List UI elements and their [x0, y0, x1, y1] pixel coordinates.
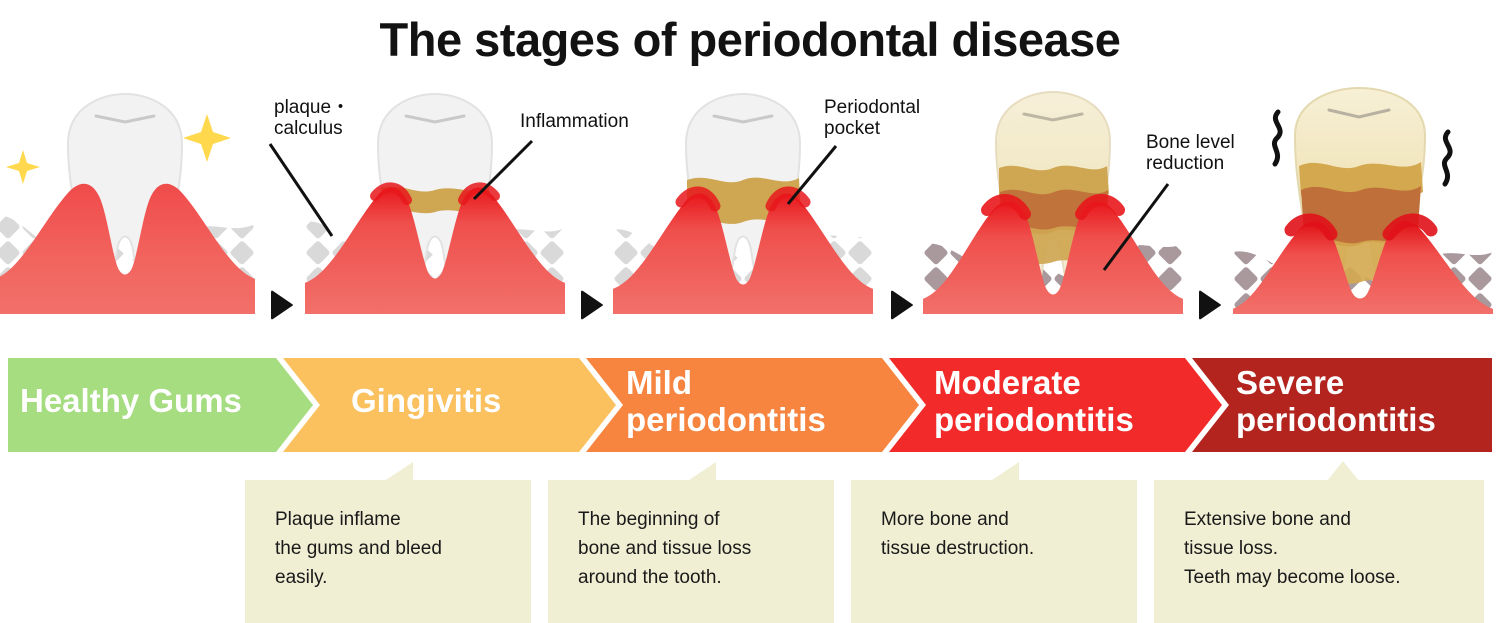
stage-banner-labels: Healthy Gums Gingivitis Mild periodontit… [8, 358, 1492, 452]
inflammation-label: Inflammation [520, 111, 629, 132]
severe-periodontitis-tooth-illustration [1233, 84, 1493, 314]
periodontal-pocket-label: Periodontal pocket [824, 97, 920, 140]
separator-arrow-3 [888, 290, 914, 320]
periodontal-pocket-leader-line [784, 142, 844, 222]
caption-mild-periodontitis: The beginning of bone and tissue loss ar… [548, 480, 834, 623]
healthy-tooth-illustration [0, 84, 255, 314]
bone-level-reduction-label: Bone level reduction [1146, 132, 1235, 175]
plaque-calculus-leader-line [266, 140, 346, 250]
caption-moderate-periodontitis: More bone and tissue destruction. [851, 480, 1137, 623]
page-title: The stages of periodontal disease [0, 12, 1500, 67]
caption-moderate-periodontitis-tail [989, 462, 1019, 482]
caption-mild-periodontitis-tail [686, 462, 716, 482]
separator-arrow-2 [578, 290, 604, 320]
illustration-row: plaque・ calculus Inflammation Periodonta… [0, 84, 1500, 314]
banner-label-gingivitis[interactable]: Gingivitis [351, 383, 501, 420]
caption-gingivitis-tail [383, 462, 413, 482]
caption-severe-periodontitis-tail [1327, 461, 1359, 481]
banner-label-healthy-gums[interactable]: Healthy Gums [20, 383, 242, 420]
plaque-calculus-label: plaque・ calculus [274, 97, 350, 140]
inflammation-leader-line [470, 137, 540, 217]
caption-severe-periodontitis: Extensive bone and tissue loss. Teeth ma… [1154, 480, 1484, 623]
bone-level-reduction-leader-line [1098, 180, 1178, 280]
separator-arrow-4 [1196, 290, 1222, 320]
caption-gingivitis: Plaque inflame the gums and bleed easily… [245, 480, 531, 623]
banner-label-mild-periodontitis[interactable]: Mild periodontitis [626, 365, 826, 439]
banner-label-moderate-periodontitis[interactable]: Moderate periodontitis [934, 365, 1134, 439]
banner-label-severe-periodontitis[interactable]: Severe periodontitis [1236, 365, 1436, 439]
separator-arrow-1 [268, 290, 294, 320]
